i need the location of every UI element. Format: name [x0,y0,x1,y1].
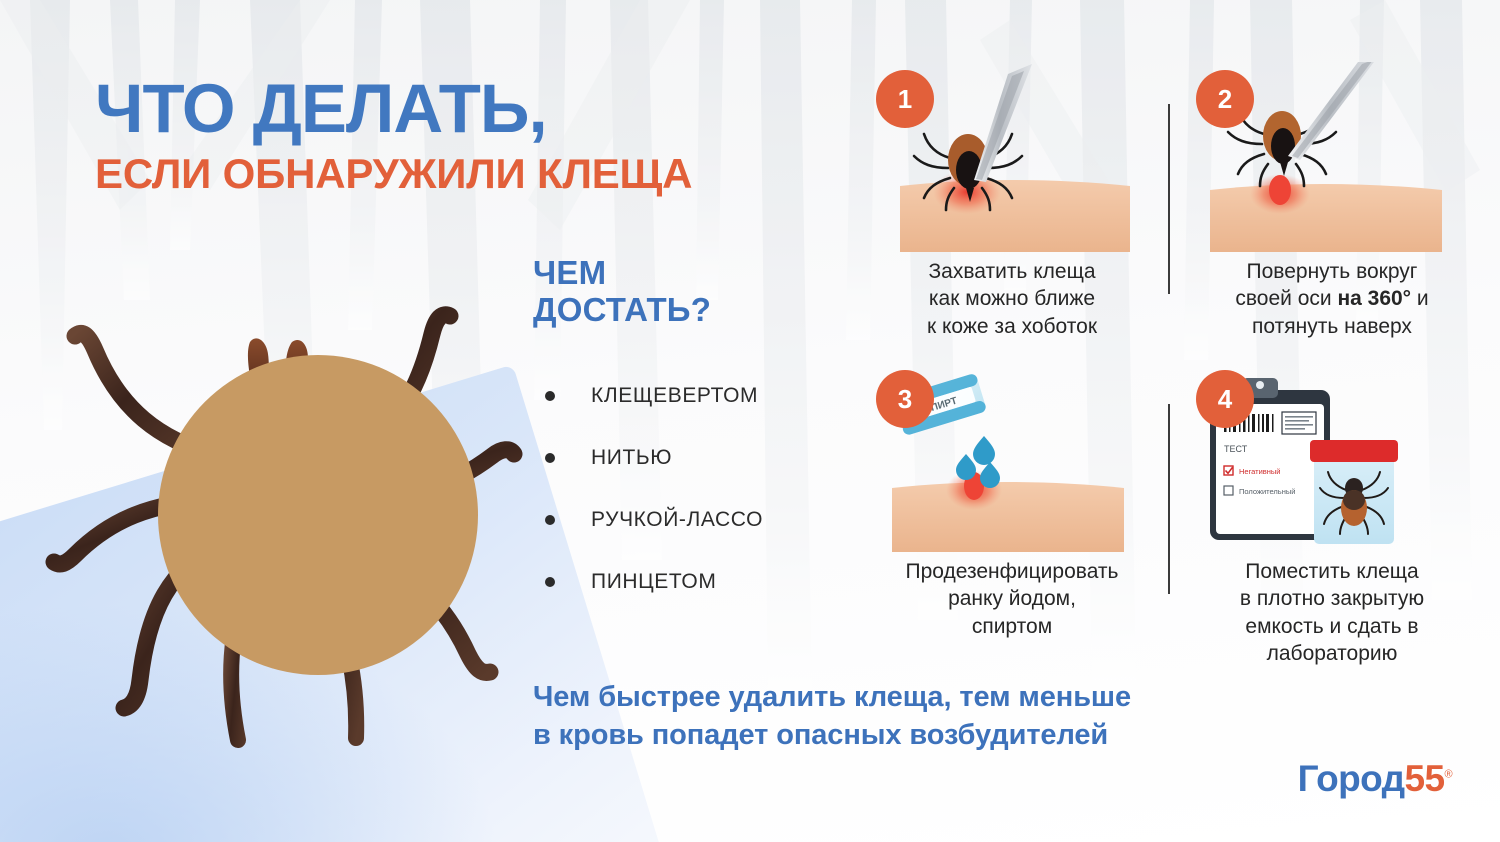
step-number-badge: 2 [1196,70,1254,128]
brand-logo[interactable]: Город55® [1298,758,1452,800]
bullet-icon [545,577,555,587]
poster-headline: ЧТО ДЕЛАТЬ, ЕСЛИ ОБНАРУЖИЛИ КЛЕЩА [95,76,692,196]
list-item: НИТЬЮ [545,427,875,489]
step-2-caption: Повернуть вокруг своей оси на 360° и пот… [1182,258,1482,340]
step-1: 1 [862,62,1162,340]
caption-line: спиртом [862,613,1162,640]
bullet-icon [545,453,555,463]
logo-word: Город [1298,758,1405,799]
registered-mark-icon: ® [1444,769,1452,781]
headline-line-1: ЧТО ДЕЛАТЬ, [95,76,692,142]
step-number-badge: 3 [876,370,934,428]
caption-text: своей оси [1235,287,1337,310]
caption-line: как можно ближе [862,285,1162,312]
logo-number: 55 [1405,758,1445,799]
caption-text: и [1411,287,1429,310]
infographic-poster: ЧТО ДЕЛАТЬ, ЕСЛИ ОБНАРУЖИЛИ КЛЕЩА [0,0,1500,842]
caption-line: Поместить клеща [1182,558,1482,585]
form-option-positive: Положительный [1239,487,1295,496]
caption-line: Повернуть вокруг [1182,258,1482,285]
form-title: ТЕСТ [1224,444,1248,454]
bullet-icon [545,515,555,525]
step-4-caption: Поместить клеща в плотно закрытую емкост… [1182,558,1482,667]
tools-section-title: ЧЕМ ДОСТАТЬ? [533,255,711,329]
caption-line: ранку йодом, [862,585,1162,612]
step-3-caption: Продезенфицировать ранку йодом, спиртом [862,558,1162,640]
caption-line: к коже за хоботок [862,313,1162,340]
caption-line: своей оси на 360° и [1182,285,1482,312]
caption-line: Продезенфицировать [862,558,1162,585]
headline-line-2: ЕСЛИ ОБНАРУЖИЛИ КЛЕЩА [95,152,692,196]
steps-grid: 1 [862,62,1482,682]
caption-line: потянуть наверх [1182,313,1482,340]
list-item: РУЧКОЙ-ЛАССО [545,489,875,551]
list-item: ПИНЦЕТОМ [545,551,875,613]
steps-divider-top [1168,104,1170,294]
caption-line: емкость и сдать в [1182,613,1482,640]
caption-line: Захватить клеща [862,258,1162,285]
list-item: КЛЕЩЕВЕРТОМ [545,365,875,427]
bottom-note: Чем быстрее удалить клеща, тем меньше в … [533,678,1153,755]
form-option-negative: Негативный [1239,467,1281,476]
bullet-icon [545,391,555,401]
step-number-badge: 4 [1196,370,1254,428]
tick-illustration [40,250,540,750]
caption-bold-360: на 360° [1337,287,1411,310]
tool-label: КЛЕЩЕВЕРТОМ [591,384,758,408]
caption-line: в плотно закрытую [1182,585,1482,612]
step-1-caption: Захватить клеща как можно ближе к коже з… [862,258,1162,340]
step-4: 4 [1182,362,1482,667]
tools-title-line-2: ДОСТАТЬ? [533,292,711,329]
step-3: 3 [862,362,1162,640]
tool-label: НИТЬЮ [591,446,672,470]
tool-label: ПИНЦЕТОМ [591,570,716,594]
tools-title-line-1: ЧЕМ [533,255,711,292]
step-2: 2 [1182,62,1482,340]
steps-divider-bottom [1168,404,1170,594]
caption-line: лабораторию [1182,640,1482,667]
tool-label: РУЧКОЙ-ЛАССО [591,508,763,532]
step-number-badge: 1 [876,70,934,128]
tools-list: КЛЕЩЕВЕРТОМ НИТЬЮ РУЧКОЙ-ЛАССО ПИНЦЕТОМ [545,365,875,613]
tick-backdrop-circle [158,355,478,675]
